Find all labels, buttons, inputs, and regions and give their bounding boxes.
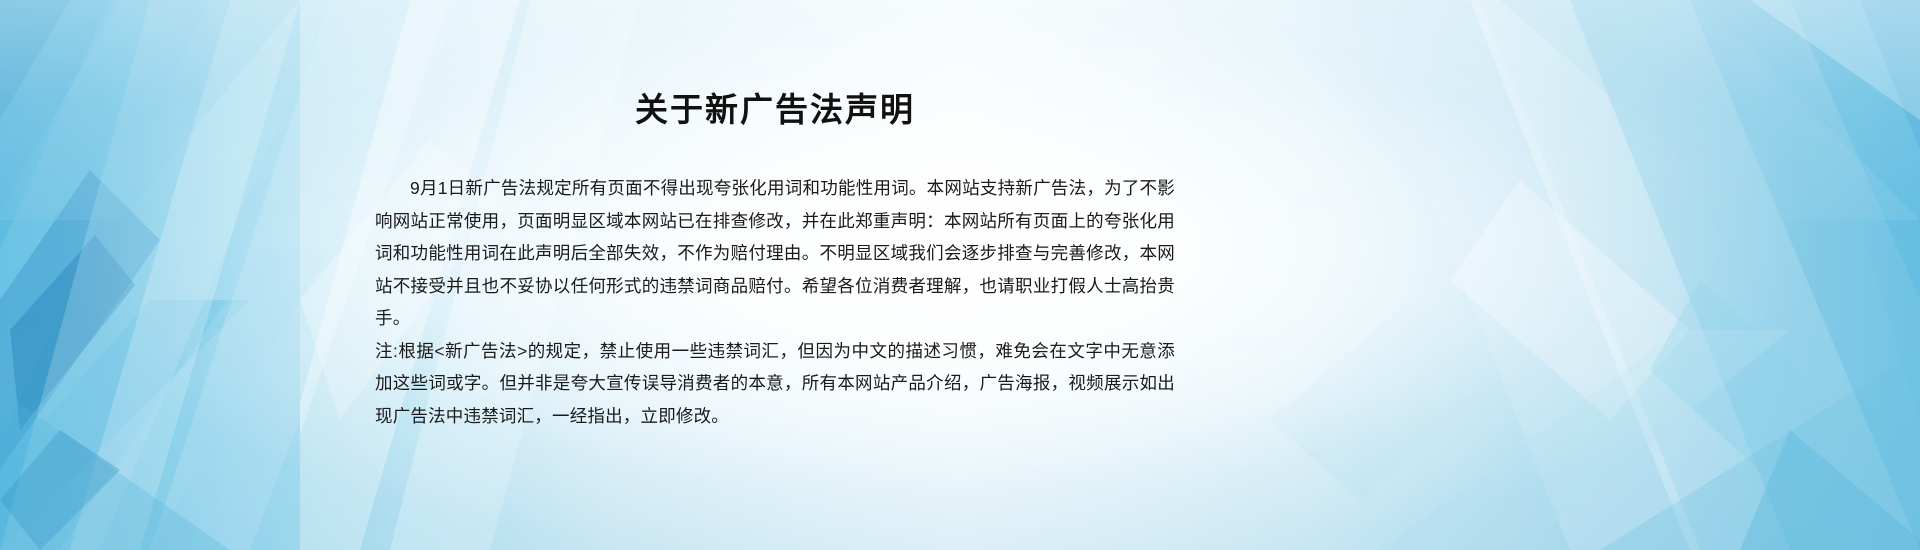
statement-paragraph-main: 9月1日新广告法规定所有页面不得出现夸张化用词和功能性用词。本网站支持新广告法，… bbox=[375, 172, 1175, 335]
statement-paragraph-note: 注:根据<新广告法>的规定，禁止使用一些违禁词汇，但因为中文的描述习惯，难免会在… bbox=[375, 335, 1175, 433]
page-title: 关于新广告法声明 bbox=[0, 88, 1550, 132]
banner-content: 关于新广告法声明 9月1日新广告法规定所有页面不得出现夸张化用词和功能性用词。本… bbox=[0, 0, 1920, 550]
advertising-law-statement-banner: 关于新广告法声明 9月1日新广告法规定所有页面不得出现夸张化用词和功能性用词。本… bbox=[0, 0, 1920, 550]
statement-body: 9月1日新广告法规定所有页面不得出现夸张化用词和功能性用词。本网站支持新广告法，… bbox=[375, 172, 1175, 432]
